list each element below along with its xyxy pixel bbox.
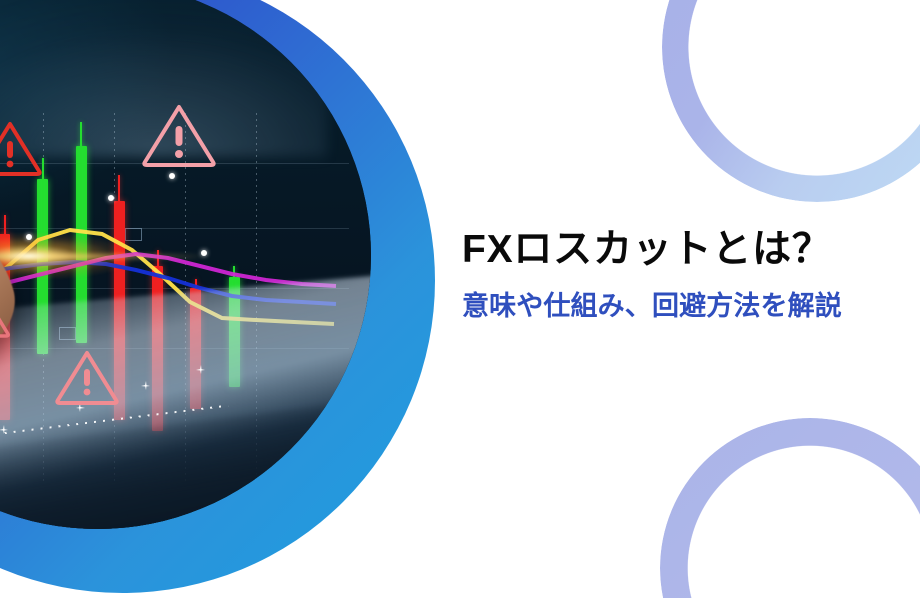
page-subtitle: 意味や仕組み、回避方法を解説 (462, 290, 914, 322)
photo-medallion (0, 0, 435, 593)
article-hero-banner: FXロスカットとは？ 意味や仕組み、回避方法を解説 (0, 0, 920, 598)
sparkle-icon (141, 381, 150, 390)
pointing-hand (0, 201, 43, 485)
ring-top-right-decoration (662, 0, 920, 202)
sparkle-icon (196, 365, 205, 374)
warning-triangle-1-icon (0, 119, 43, 177)
chart-node-dot (26, 234, 32, 240)
sparkle-icon (0, 425, 8, 434)
ring-bottom-right-decoration (660, 418, 920, 598)
warning-triangle-4-icon (0, 294, 11, 338)
page-title: FXロスカットとは？ (462, 228, 914, 272)
warning-triangle-5-icon (54, 348, 120, 406)
hero-text-block: FXロスカットとは？ 意味や仕組み、回避方法を解説 (462, 228, 914, 322)
warning-triangle-2-icon (141, 102, 217, 168)
photo-medallion-image (0, 0, 371, 529)
